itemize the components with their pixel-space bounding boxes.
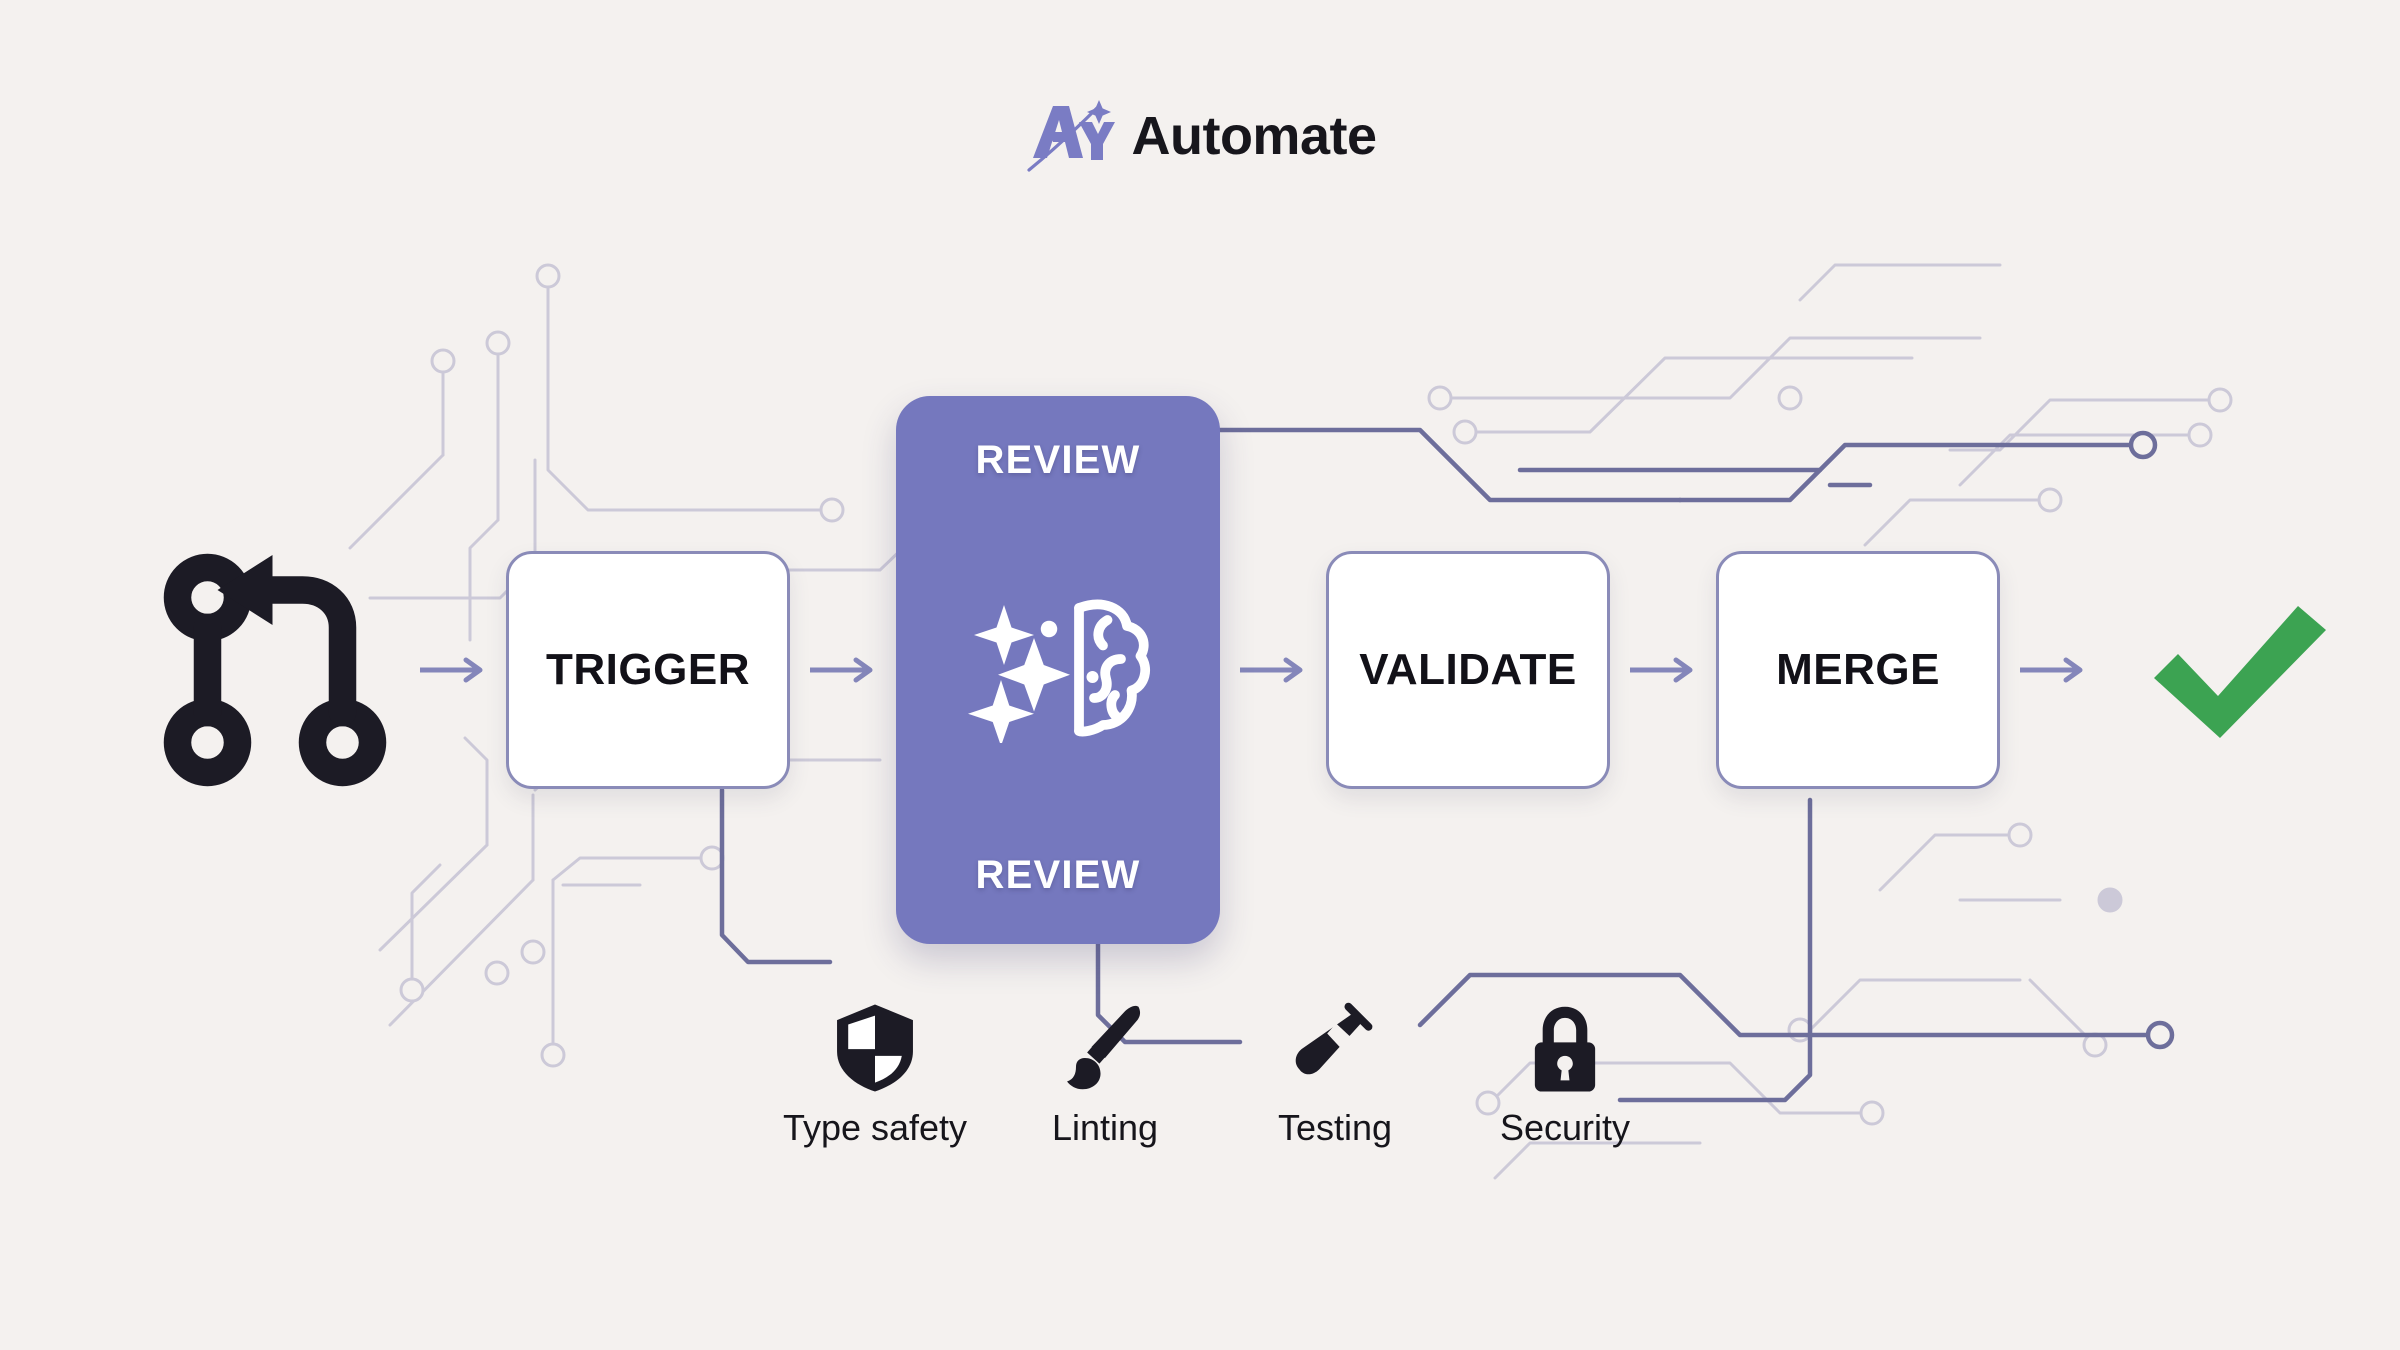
- arrow-right-icon: [2020, 657, 2086, 683]
- quality-check-label: Linting: [1052, 1110, 1158, 1146]
- arrow-right-icon: [420, 657, 486, 683]
- quality-check-label: Type safety: [783, 1110, 967, 1146]
- test-tube-icon: [1290, 1000, 1380, 1096]
- ai-brain-sparkles-icon: [965, 593, 1151, 743]
- stage-label: VALIDATE: [1359, 645, 1576, 695]
- pipeline-stage-validate[interactable]: VALIDATE: [1326, 551, 1610, 789]
- ay-star-logo-icon: [1023, 96, 1115, 176]
- quality-checks-row: Type safety Linting Testing: [760, 1000, 1680, 1146]
- shield-icon: [830, 1000, 920, 1096]
- quality-check-testing[interactable]: Testing: [1220, 1000, 1450, 1146]
- stage-label-top: REVIEW: [976, 438, 1141, 483]
- pipeline-stage-merge[interactable]: MERGE: [1716, 551, 2000, 789]
- pipeline-stage-review[interactable]: REVIEW REVIEW: [896, 396, 1220, 944]
- quality-check-security[interactable]: Security: [1450, 1000, 1680, 1146]
- paintbrush-icon: [1060, 1000, 1150, 1096]
- brand-header: Automate: [0, 96, 2400, 176]
- quality-check-label: Testing: [1278, 1110, 1392, 1146]
- stage-label-bottom: REVIEW: [976, 853, 1141, 898]
- brand-name: Automate: [1131, 109, 1376, 163]
- stage-label: MERGE: [1776, 645, 1940, 695]
- arrow-right-icon: [1240, 657, 1306, 683]
- quality-check-type-safety[interactable]: Type safety: [760, 1000, 990, 1146]
- lock-icon: [1520, 1000, 1610, 1096]
- quality-check-linting[interactable]: Linting: [990, 1000, 1220, 1146]
- arrow-right-icon: [810, 657, 876, 683]
- pipeline-stage-trigger[interactable]: TRIGGER: [506, 551, 790, 789]
- diagram-canvas: Automate TRIGGER: [0, 0, 2400, 1350]
- arrow-right-icon: [1630, 657, 1696, 683]
- pipeline-flow: TRIGGER REVIEW: [150, 515, 2290, 825]
- git-pull-request-icon: [150, 545, 400, 795]
- green-check-icon: [2138, 590, 2338, 750]
- quality-check-label: Security: [1500, 1110, 1630, 1146]
- stage-label: TRIGGER: [546, 645, 750, 695]
